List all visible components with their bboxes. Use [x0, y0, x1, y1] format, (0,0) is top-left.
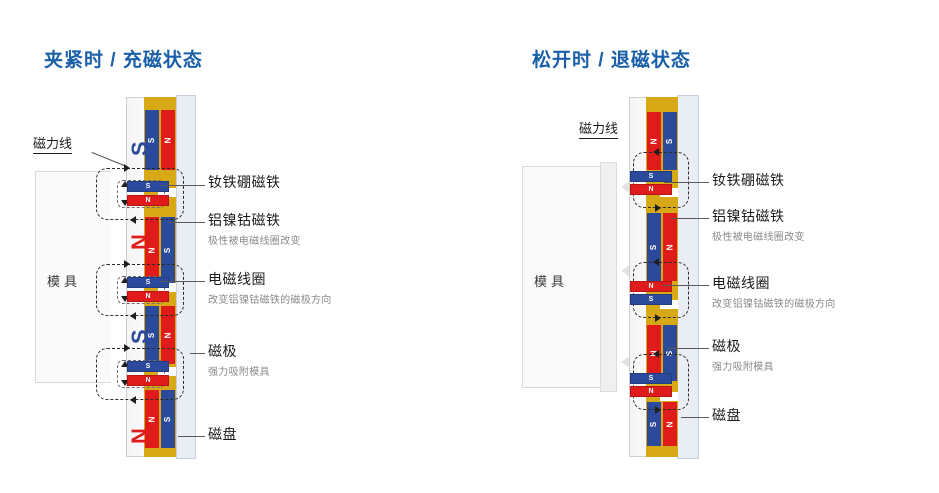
callout-leader: [161, 185, 205, 186]
flux-arrow: [655, 204, 661, 212]
callout-electromagnet-coil: 电磁线圈 改变铝镍钴磁铁的磁极方向: [712, 273, 836, 310]
panel-title-clamped: 夹紧时 / 充磁状态: [44, 45, 203, 72]
alnico-magnet: S: [127, 277, 169, 288]
callout-leader: [667, 348, 709, 349]
alnico-magnet: S: [127, 181, 169, 192]
alnico-magnet: N: [127, 195, 169, 206]
pole-face-letter: N: [127, 422, 153, 444]
callout-leader: [662, 285, 709, 286]
alnico-magnet: S: [630, 294, 672, 305]
flux-arrow: [653, 148, 659, 156]
callout-leader: [671, 218, 709, 219]
flux-arrow: [130, 216, 136, 224]
pole-face-letter: S: [127, 134, 153, 156]
callout-magnetic-disc: 磁盘: [712, 405, 741, 425]
callout-leader: [664, 182, 709, 183]
alnico-magnet: N: [630, 281, 672, 292]
mold-label-clamped: 模具: [47, 271, 81, 290]
flux-arrow: [653, 350, 659, 358]
callout-leader: [681, 417, 709, 418]
flux-arrow: [130, 396, 136, 404]
callout-electromagnet-coil: 电磁线圈 改变铝镍钴磁铁的磁极方向: [208, 269, 332, 306]
flux-arrow: [653, 258, 659, 266]
pole-face-letter: S: [127, 322, 153, 344]
flux-arrow: [655, 406, 661, 414]
callout-magnetic-disc: 磁盘: [208, 424, 237, 444]
alnico-magnet: S: [630, 171, 672, 182]
flux-arrow: [124, 260, 130, 268]
callout-ndfeb-magnet: 钕铁硼磁铁: [208, 172, 281, 192]
flux-arrow: [655, 314, 661, 322]
alnico-magnet: N: [630, 386, 672, 397]
pole-face-letter: N: [127, 228, 153, 250]
alnico-magnet: N: [127, 291, 169, 302]
flux-arrow: [124, 164, 130, 172]
alnico-magnet: N: [630, 184, 672, 195]
callout-alnico-magnet: 铝镍钴磁铁 极性被电磁线圈改变: [712, 206, 805, 243]
callout-ndfeb-magnet: 钕铁硼磁铁: [712, 170, 785, 190]
alnico-magnet: S: [630, 373, 672, 384]
flux-line-label-clamped: 磁力线: [33, 133, 72, 154]
callout-magnetic-pole: 磁极 强力吸附模具: [208, 341, 270, 378]
callout-magnetic-pole: 磁极 强力吸附模具: [712, 336, 774, 373]
mold-plate-released: [600, 162, 617, 392]
flux-arrow: [130, 312, 136, 320]
callout-leader: [190, 353, 205, 354]
callout-leader: [178, 436, 205, 437]
callout-leader: [168, 222, 205, 223]
callout-alnico-magnet: 铝镍钴磁铁 极性被电磁线圈改变: [208, 210, 301, 247]
panel-clamped: 夹紧时 / 充磁状态 模具 磁力线 S N N S S N: [0, 0, 470, 493]
flux-arrow: [124, 344, 130, 352]
alnico-magnet: S: [127, 361, 169, 372]
flux-line-label-released: 磁力线: [579, 118, 618, 139]
diagram-canvas: 夹紧时 / 充磁状态 模具 磁力线 S N N S S N: [0, 0, 939, 493]
panel-title-released: 松开时 / 退磁状态: [532, 45, 691, 72]
alnico-magnet: N: [127, 375, 169, 386]
ndfeb-bar: N: [161, 110, 175, 170]
mold-label-released: 模具: [534, 271, 568, 290]
panel-released: 松开时 / 退磁状态 模具 磁力线 N S S N N S: [469, 0, 939, 493]
callout-leader: [160, 281, 205, 282]
